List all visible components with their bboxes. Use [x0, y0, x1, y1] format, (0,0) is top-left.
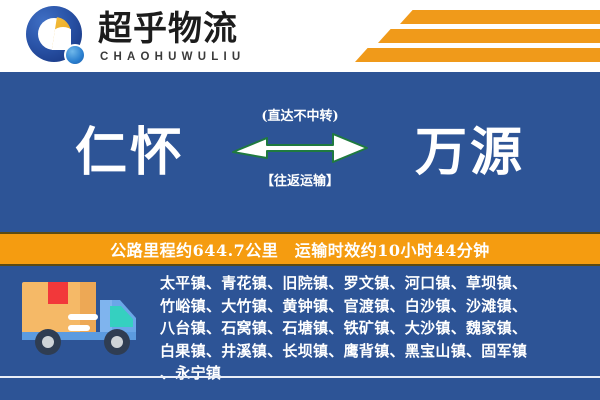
served-towns-list: 太平镇、青花镇、旧院镇、罗文镇、河口镇、草坝镇、 竹峪镇、大竹镇、黄钟镇、官渡镇… [160, 266, 600, 385]
double-headed-arrow-icon [231, 130, 369, 164]
bottom-divider [0, 376, 600, 378]
direct-shipping-note: (直达不中转) [261, 105, 338, 124]
distance-duration-text: 公路里程约644.7公里 运输时效约10小时44分钟 [110, 237, 490, 261]
brand-name-cn: 超乎物流 [98, 11, 245, 47]
town-line: 、永宁镇 [160, 362, 592, 385]
orange-speed-stripes-icon [330, 6, 600, 68]
chaohu-circle-logo-icon [26, 6, 88, 68]
logistics-route-banner: 超乎物流 CHAOHUWULIU 仁怀 (直达不中转) 【往返运输】 万源 公路… [0, 0, 600, 400]
brand-text-block: 超乎物流 CHAOHUWULIU [98, 11, 245, 62]
served-towns-section: 太平镇、青花镇、旧院镇、罗文镇、河口镇、草坝镇、 竹峪镇、大竹镇、黄钟镇、官渡镇… [0, 266, 600, 400]
stripe-2 [378, 29, 600, 43]
logo-accent-dot [64, 44, 86, 66]
town-line: 竹峪镇、大竹镇、黄钟镇、官渡镇、白沙镇、沙滩镇、 [160, 295, 592, 318]
stripe-3 [355, 48, 600, 62]
banner-header: 超乎物流 CHAOHUWULIU [0, 0, 600, 72]
delivery-truck-icon [0, 266, 160, 362]
stripe-1 [400, 10, 600, 24]
route-middle-group: (直达不中转) 【往返运输】 [220, 105, 380, 189]
route-section: 仁怀 (直达不中转) 【往返运输】 万源 [0, 72, 600, 222]
origin-city: 仁怀 [40, 110, 220, 185]
roundtrip-note: 【往返运输】 [261, 170, 339, 189]
town-line: 太平镇、青花镇、旧院镇、罗文镇、河口镇、草坝镇、 [160, 272, 592, 295]
town-line: 八台镇、石窝镇、石塘镇、铁矿镇、大沙镇、魏家镇、 [160, 317, 592, 340]
brand-logo-group: 超乎物流 CHAOHUWULIU [26, 6, 245, 68]
distance-duration-bar: 公路里程约644.7公里 运输时效约10小时44分钟 [0, 232, 600, 266]
destination-city: 万源 [380, 110, 560, 185]
brand-name-en: CHAOHUWULIU [98, 51, 245, 63]
town-line: 白果镇、井溪镇、长坝镇、鹰背镇、黑宝山镇、固军镇 [160, 340, 592, 363]
